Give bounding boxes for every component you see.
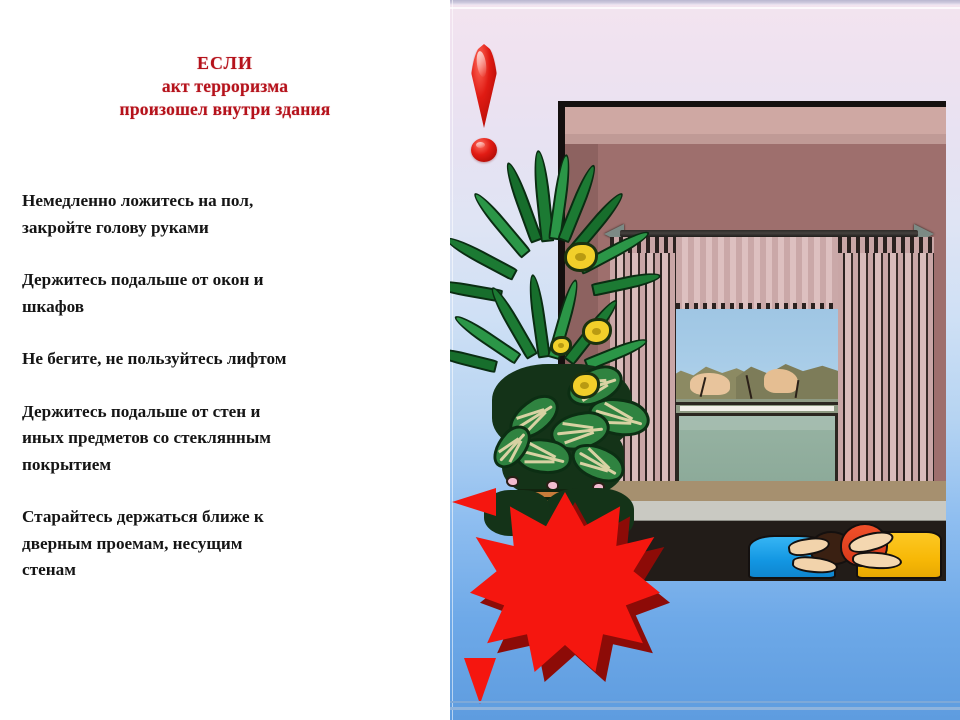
list-item: Немедленно ложитесь на пол, закройте гол… [22, 188, 394, 241]
list-item-line: дверным проемам, несущим [22, 531, 394, 558]
title-line-2: акт терроризма [0, 75, 450, 98]
panel-bottom-line-1 [450, 701, 960, 703]
text-column: ЕСЛИ акт терроризма произошел внутри зда… [0, 0, 450, 720]
list-item-line: Старайтесь держаться ближе к [22, 504, 394, 531]
exclamation-stem [470, 44, 498, 128]
list-item: Держитесь подальше от стен и иных предме… [22, 399, 394, 479]
list-item-line: покрытием [22, 452, 394, 479]
list-item: Держитесь подальше от окон и шкафов [22, 267, 394, 320]
slide: ЕСЛИ акт терроризма произошел внутри зда… [0, 0, 960, 720]
illustration-panel [450, 0, 960, 720]
title-line-3: произошел внутри здания [0, 98, 450, 121]
plant-flower-pink [506, 476, 519, 487]
explosion-spike [464, 658, 496, 704]
list-item-line: закройте голову руками [22, 215, 394, 242]
list-item: Старайтесь держаться ближе к дверным про… [22, 504, 394, 584]
explosion-spike [452, 488, 496, 516]
list-item-line: иных предметов со стеклянным [22, 425, 394, 452]
list-item-line: Держитесь подальше от стен и [22, 399, 394, 426]
instruction-list: Немедленно ложитесь на пол, закройте гол… [22, 188, 394, 584]
page-title: ЕСЛИ акт терроризма произошел внутри зда… [0, 52, 450, 121]
list-item-line: Держитесь подальше от окон и [22, 267, 394, 294]
panel-bottom-line-2 [450, 707, 960, 710]
plant-blade [591, 269, 662, 296]
panel-top-bar [450, 0, 960, 5]
plant-flower-yellow [582, 318, 612, 345]
title-line-1: ЕСЛИ [0, 52, 450, 75]
panel-top-line [450, 7, 960, 9]
list-item-line: шкафов [22, 294, 394, 321]
explosion-starburst-icon [470, 492, 670, 682]
list-item: Не бегите, не пользуйтесь лифтом [22, 346, 394, 373]
list-item-line: Не бегите, не пользуйтесь лифтом [22, 346, 394, 373]
list-item-line: стенам [22, 557, 394, 584]
list-item-line: Немедленно ложитесь на пол, [22, 188, 394, 215]
